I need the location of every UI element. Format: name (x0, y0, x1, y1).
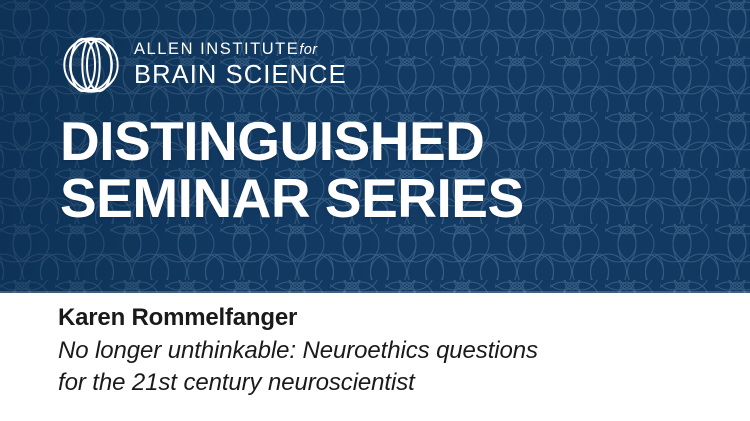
seminar-announcement-slide: ALLEN INSTITUTEfor BRAIN SCIENCE DISTING… (0, 0, 750, 421)
banner: ALLEN INSTITUTEfor BRAIN SCIENCE DISTING… (0, 0, 750, 293)
talk-title: No longer unthinkable: Neuroethics quest… (58, 335, 718, 399)
series-title-line-1: DISTINGUISHED (60, 113, 524, 170)
series-title-line-2: SEMINAR SERIES (60, 170, 524, 227)
allen-institute-logo: ALLEN INSTITUTEfor BRAIN SCIENCE (62, 36, 347, 94)
logo-wordmark: ALLEN INSTITUTEfor BRAIN SCIENCE (134, 40, 347, 89)
allen-institute-sphere-logo-icon (62, 36, 120, 94)
logo-for-text: for (299, 42, 317, 58)
speaker-name: Karen Rommelfanger (58, 304, 297, 332)
talk-title-line-1: No longer unthinkable: Neuroethics quest… (58, 335, 718, 367)
series-title: DISTINGUISHED SEMINAR SERIES (60, 113, 524, 227)
caption-block: Karen Rommelfanger No longer unthinkable… (0, 295, 750, 421)
logo-line-allen-institute: ALLEN INSTITUTEfor (134, 41, 347, 58)
talk-title-line-2: for the 21st century neuroscientist (58, 367, 718, 399)
logo-allen-institute-text: ALLEN INSTITUTE (134, 40, 299, 58)
logo-line-brain-science: BRAIN SCIENCE (134, 62, 347, 90)
banner-bottom-rule (0, 291, 750, 293)
